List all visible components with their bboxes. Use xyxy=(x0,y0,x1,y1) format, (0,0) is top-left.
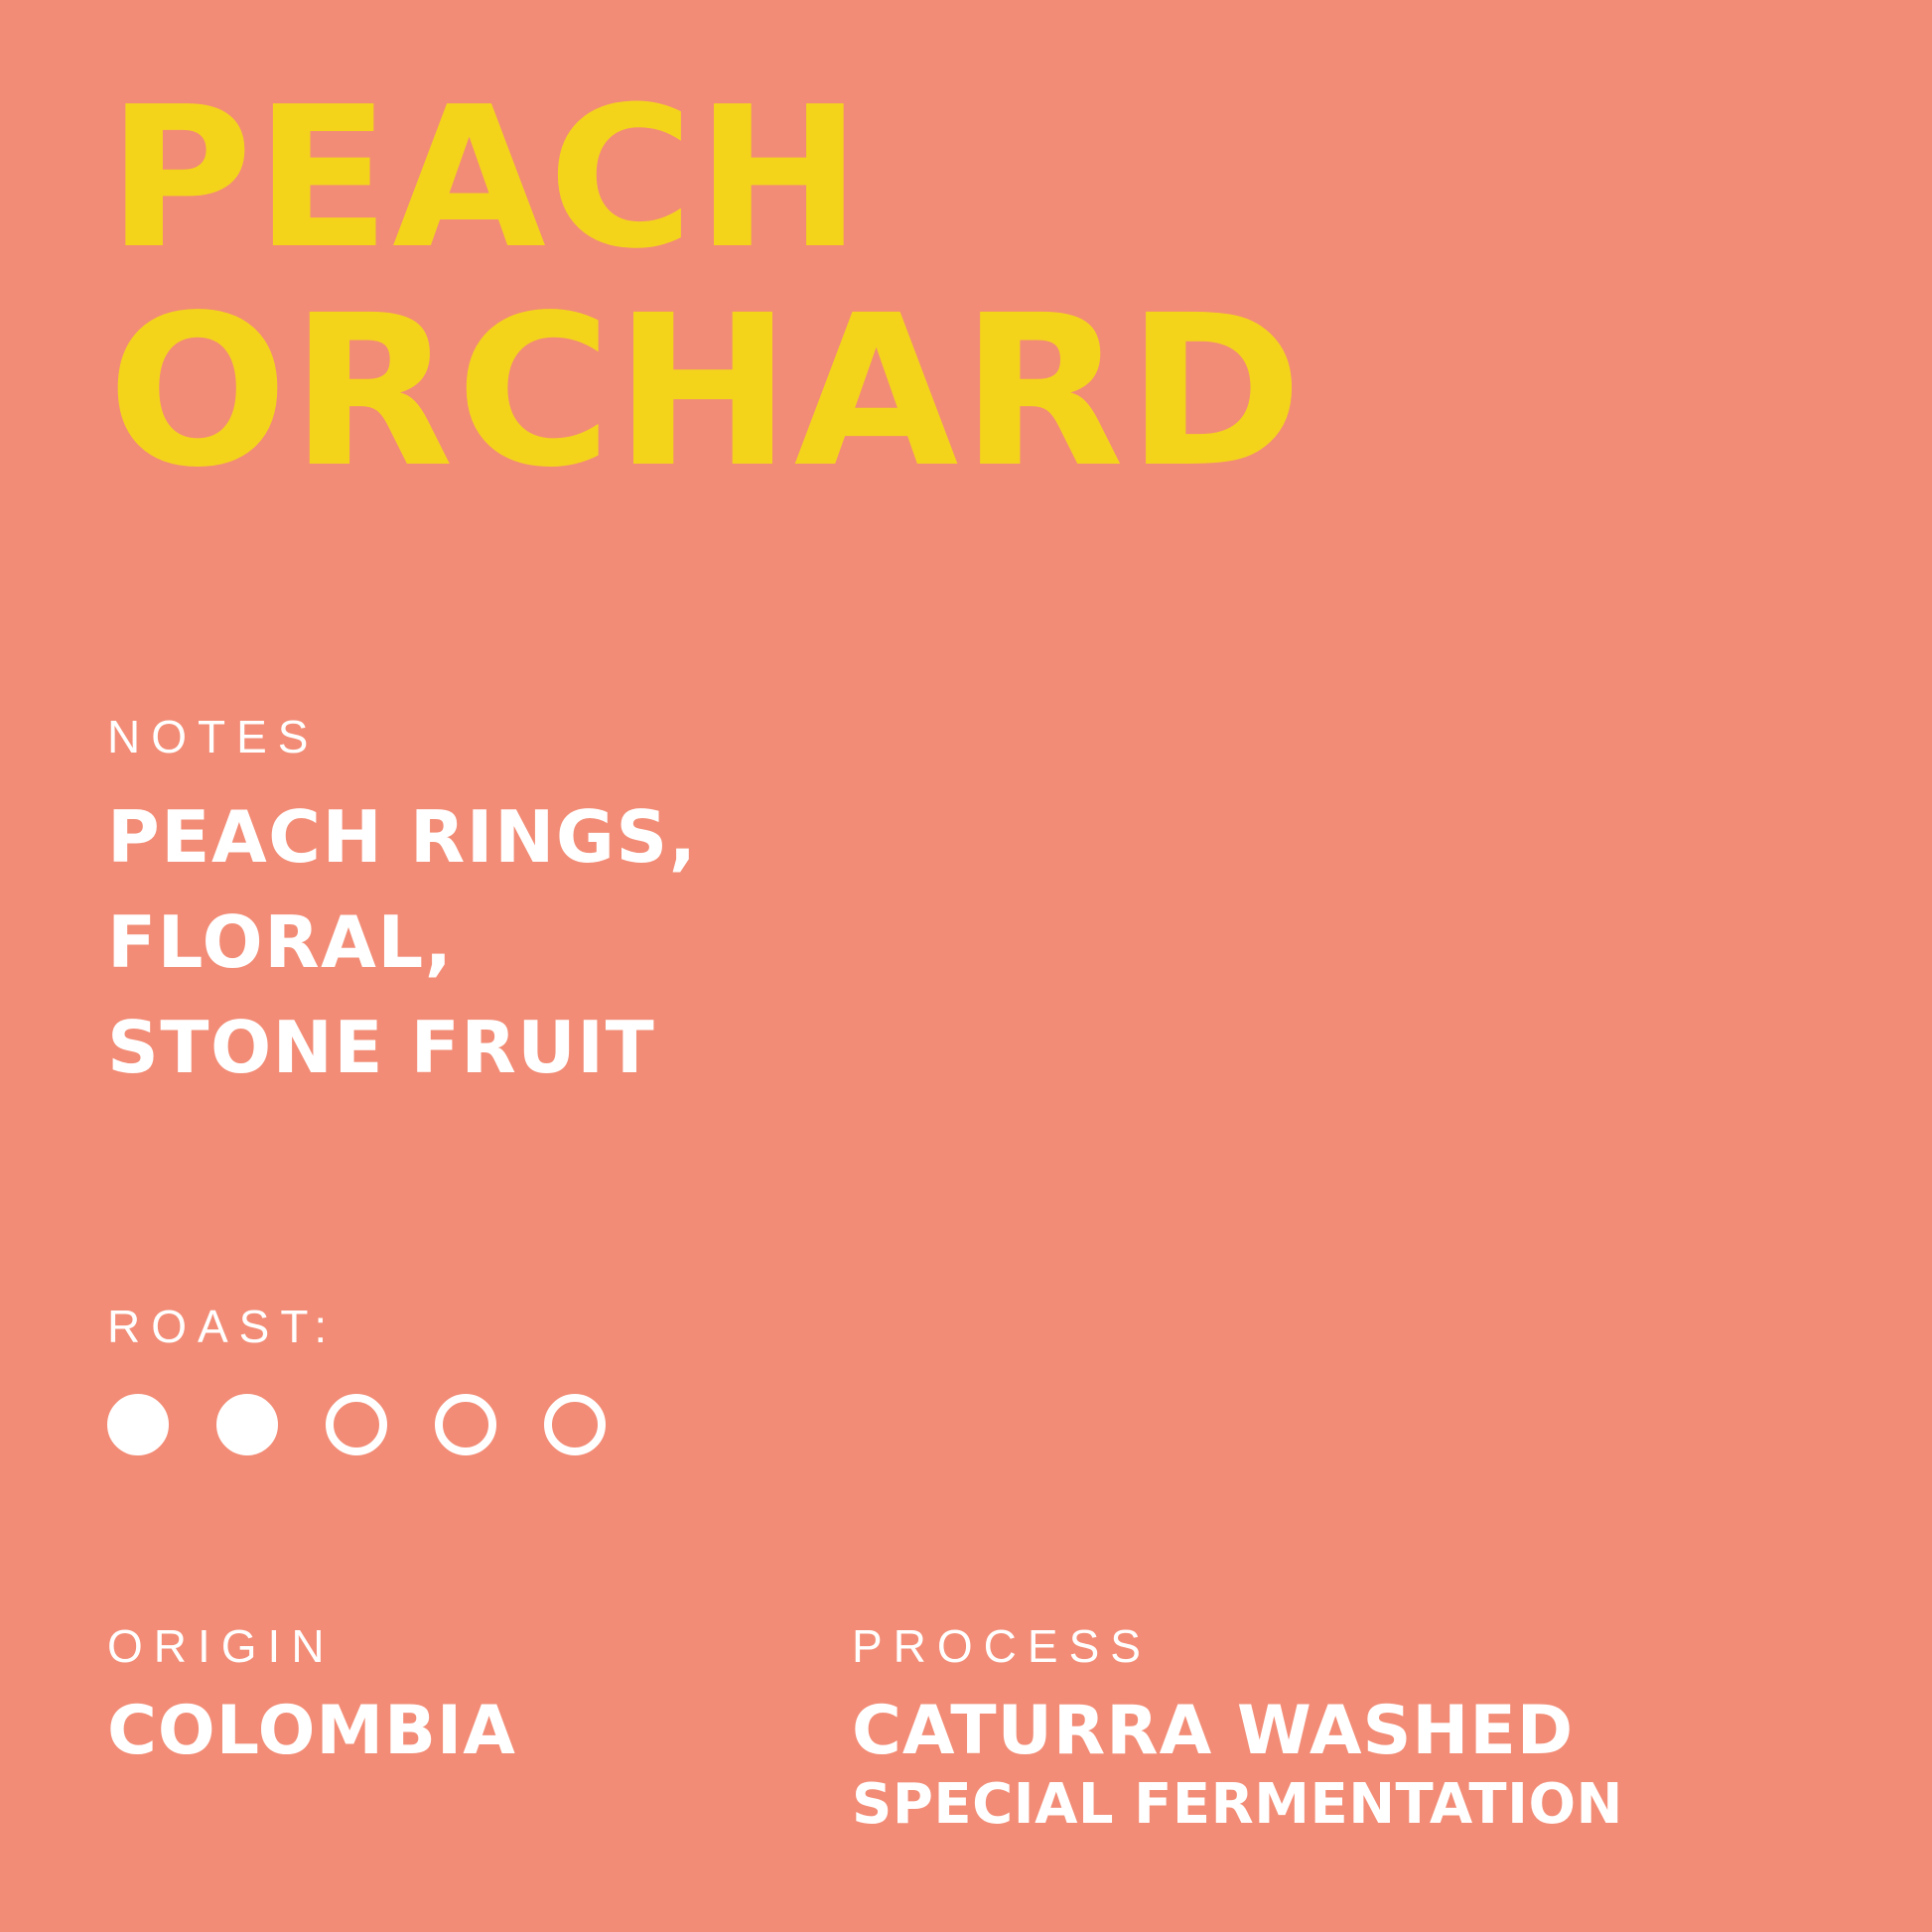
roast-dot-4 xyxy=(435,1394,496,1455)
note-item: FLORAL, xyxy=(107,890,1199,995)
process-value: CATURRA WASHED xyxy=(852,1694,1845,1769)
product-title-line-1: PEACH xyxy=(107,77,1626,280)
roast-level-meter xyxy=(107,1394,901,1455)
process-group: PROCESS CATURRA WASHED SPECIAL FERMENTAT… xyxy=(852,1620,1845,1837)
notes-section: NOTES PEACH RINGS, FLORAL, STONE FRUIT xyxy=(107,711,1199,1100)
product-title-line-2: ORCHARD xyxy=(107,286,1626,498)
origin-label: ORIGIN xyxy=(107,1620,852,1672)
process-values: CATURRA WASHED SPECIAL FERMENTATION xyxy=(852,1694,1845,1837)
roast-dot-1 xyxy=(107,1394,169,1455)
roast-dot-3 xyxy=(326,1394,387,1455)
roast-dot-5 xyxy=(544,1394,606,1455)
note-item: PEACH RINGS, xyxy=(107,784,1199,890)
roast-section: ROAST: xyxy=(107,1301,901,1455)
roast-dot-2 xyxy=(216,1394,278,1455)
process-label: PROCESS xyxy=(852,1620,1845,1672)
note-item: STONE FRUIT xyxy=(107,995,1199,1100)
notes-list: PEACH RINGS, FLORAL, STONE FRUIT xyxy=(107,784,1199,1100)
process-subvalue: SPECIAL FERMENTATION xyxy=(852,1773,1845,1837)
coffee-label-card: PEACH ORCHARD NOTES PEACH RINGS, FLORAL,… xyxy=(0,0,1932,1932)
origin-value: COLOMBIA xyxy=(107,1694,852,1769)
origin-group: ORIGIN COLOMBIA xyxy=(107,1620,852,1837)
notes-label: NOTES xyxy=(107,711,1199,762)
footer-section: ORIGIN COLOMBIA PROCESS CATURRA WASHED S… xyxy=(107,1620,1855,1837)
roast-label: ROAST: xyxy=(107,1301,901,1352)
product-title: PEACH ORCHARD xyxy=(107,77,1596,498)
origin-values: COLOMBIA xyxy=(107,1694,852,1769)
